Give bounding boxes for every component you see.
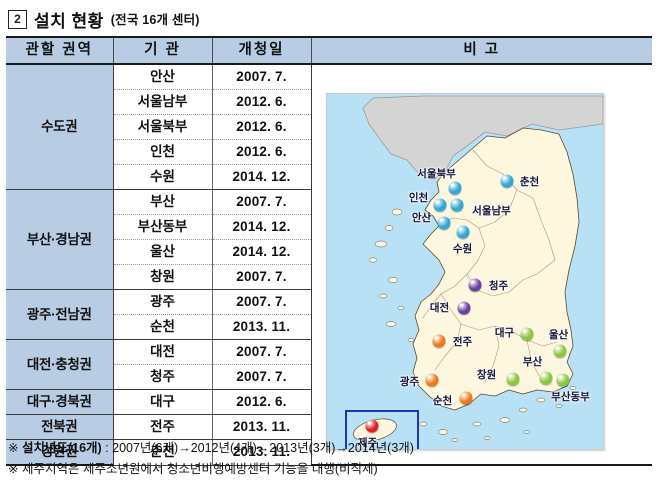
map-marker-label: 울산 — [549, 323, 568, 347]
footnote-strong: 설치년도(16개) — [22, 441, 102, 455]
map-marker-label: 창원 — [477, 363, 496, 387]
footnote-line: ※ 설치년도(16개) : 2007년(6개)→2012년(4개)→2013년(… — [8, 438, 648, 459]
map-pin-icon — [457, 302, 470, 315]
cell-institution: 순천 — [113, 315, 212, 340]
cell-region: 부산·경남권 — [6, 190, 113, 290]
table-row: 수도권안산2007. 7.서울북부춘천인천서울남부안산수원청주대전전주대구울산부… — [6, 64, 652, 90]
map-marker-label: 순천 — [433, 389, 452, 413]
cell-region: 전북권 — [6, 415, 113, 440]
map-marker-label: 부산동부 — [551, 385, 590, 409]
map-marker-15[interactable] — [459, 392, 472, 407]
cell-opened-date: 2012. 6. — [212, 90, 311, 115]
map-pin-icon — [468, 279, 481, 292]
footnote-rest: 제주지역은 제주소년원에서 청소년비행예방센터 기능을 대행(비직제) — [22, 462, 378, 476]
table-header-row: 관할 권역 기 관 개청일 비 고 — [6, 37, 652, 64]
page-title: 2 설치 현황 (전국 16개 센터) — [8, 5, 200, 33]
cell-region: 대구·경북권 — [6, 390, 113, 415]
cell-institution: 인천 — [113, 140, 212, 165]
column-header-region: 관할 권역 — [6, 37, 113, 64]
footnote-mark-icon: ※ — [8, 441, 18, 455]
table-body: 수도권안산2007. 7.서울북부춘천인천서울남부안산수원청주대전전주대구울산부… — [6, 64, 652, 465]
footnotes: ※ 설치년도(16개) : 2007년(6개)→2012년(4개)→2013년(… — [8, 438, 648, 480]
map-marker-label: 수원 — [453, 237, 472, 261]
cell-region: 대전·충청권 — [6, 340, 113, 390]
map-pin-icon — [432, 335, 445, 348]
cell-opened-date: 2014. 12. — [212, 215, 311, 240]
column-header-opened: 개청일 — [212, 37, 311, 64]
cell-opened-date: 2007. 7. — [212, 265, 311, 290]
map-pin-icon — [500, 175, 513, 188]
cell-opened-date: 2007. 7. — [212, 340, 311, 365]
map-marker-2[interactable] — [433, 199, 446, 214]
cell-region: 수도권 — [6, 64, 113, 190]
section-title: 설치 현황 — [34, 7, 104, 32]
map-marker-14[interactable] — [425, 374, 438, 389]
cell-institution: 창원 — [113, 265, 212, 290]
installation-status-table: 관할 권역 기 관 개청일 비 고 수도권안산2007. 7.서울북부춘천인천서… — [6, 36, 652, 466]
cell-remark-map: 서울북부춘천인천서울남부안산수원청주대전전주대구울산부산부산동부창원광주순천제주 — [311, 64, 652, 465]
cell-institution: 대구 — [113, 390, 212, 415]
column-header-remark: 비 고 — [311, 37, 652, 64]
map-pin-icon — [506, 373, 519, 386]
cell-institution: 부산 — [113, 190, 212, 215]
footnote-line: ※ 제주지역은 제주소년원에서 청소년비행예방센터 기능을 대행(비직제) — [8, 459, 648, 480]
map-pin-icon — [437, 217, 450, 230]
column-header-institution: 기 관 — [113, 37, 212, 64]
cell-institution: 전주 — [113, 415, 212, 440]
cell-institution: 수원 — [113, 165, 212, 190]
map-marker-3[interactable] — [450, 199, 463, 214]
cell-opened-date: 2007. 7. — [212, 365, 311, 390]
section-number-box: 2 — [8, 10, 27, 29]
cell-opened-date: 2012. 6. — [212, 115, 311, 140]
cell-opened-date: 2013. 11. — [212, 415, 311, 440]
section-subtitle: (전국 16개 센터) — [111, 9, 200, 29]
map-pin-icon — [433, 199, 446, 212]
cell-opened-date: 2007. 7. — [212, 290, 311, 315]
map-marker-label: 전주 — [453, 330, 472, 354]
map-pin-icon — [425, 374, 438, 387]
map-pin-icon — [459, 392, 472, 405]
cell-opened-date: 2007. 7. — [212, 190, 311, 215]
map-container: 서울북부춘천인천서울남부안산수원청주대전전주대구울산부산부산동부창원광주순천제주 — [312, 65, 653, 464]
map-pin-icon — [520, 328, 533, 341]
map-marker-label: 청주 — [489, 274, 508, 298]
map-marker-label: 대전 — [430, 296, 449, 320]
map-pin-icon — [450, 199, 463, 212]
map-marker-9[interactable] — [520, 328, 533, 343]
cell-opened-date: 2012. 6. — [212, 390, 311, 415]
map-marker-label: 서울남부 — [472, 199, 511, 223]
map-marker-label: 광주 — [400, 370, 419, 394]
map-marker-4[interactable] — [437, 217, 450, 232]
cell-institution: 서울북부 — [113, 115, 212, 140]
map-marker-label: 대구 — [495, 321, 514, 345]
footnote-rest: : 2007년(6개)→2012년(4개)→2013년(3개)→2014년(3개… — [102, 441, 414, 455]
map-marker-6[interactable] — [468, 279, 481, 294]
map-marker-13[interactable] — [506, 373, 519, 388]
korea-map: 서울북부춘천인천서울남부안산수원청주대전전주대구울산부산부산동부창원광주순천제주 — [326, 93, 604, 450]
map-marker-8[interactable] — [432, 335, 445, 350]
map-marker-label: 춘천 — [520, 170, 539, 194]
cell-opened-date: 2014. 12. — [212, 165, 311, 190]
map-marker-label: 안산 — [412, 206, 431, 230]
cell-institution: 부산동부 — [113, 215, 212, 240]
cell-institution: 청주 — [113, 365, 212, 390]
cell-region: 광주·전남권 — [6, 290, 113, 340]
cell-institution: 서울남부 — [113, 90, 212, 115]
cell-institution: 안산 — [113, 64, 212, 90]
cell-institution: 광주 — [113, 290, 212, 315]
cell-opened-date: 2012. 6. — [212, 140, 311, 165]
map-marker-label: 서울북부 — [417, 162, 456, 186]
cell-institution: 대전 — [113, 340, 212, 365]
cell-opened-date: 2007. 7. — [212, 64, 311, 90]
map-marker-label: 부산 — [523, 350, 542, 374]
footnote-mark-icon: ※ — [8, 462, 18, 476]
cell-institution: 울산 — [113, 240, 212, 265]
map-marker-1[interactable] — [500, 175, 513, 190]
cell-opened-date: 2014. 12. — [212, 240, 311, 265]
cell-opened-date: 2013. 11. — [212, 315, 311, 340]
map-marker-7[interactable] — [457, 302, 470, 317]
